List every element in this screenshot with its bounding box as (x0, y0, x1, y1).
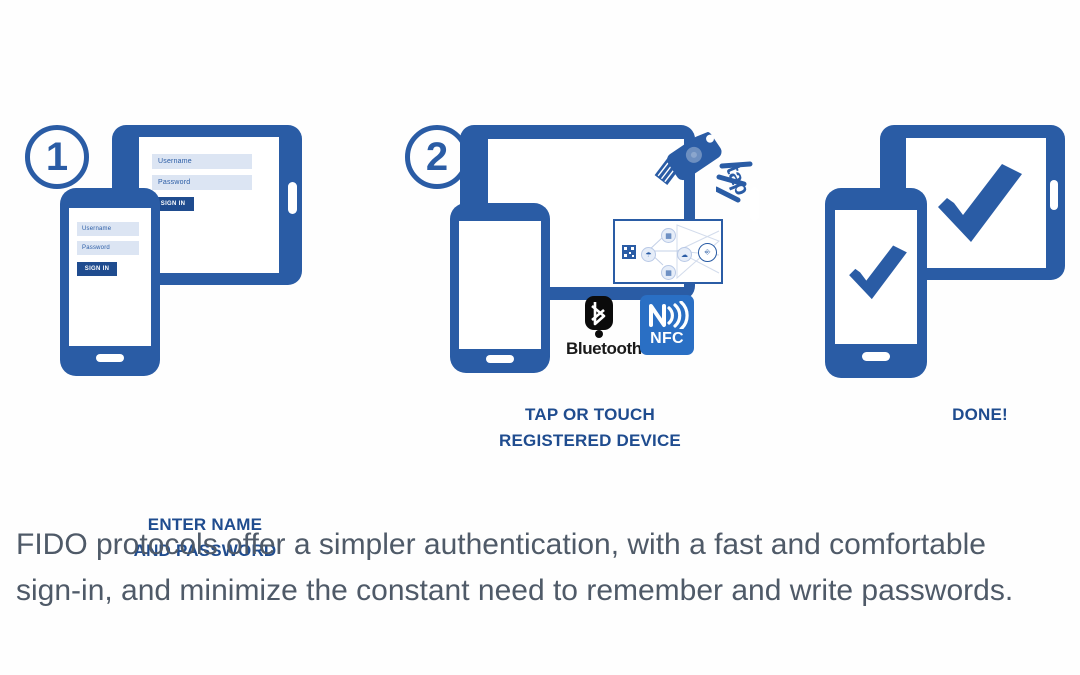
summary-paragraph-line-1: FIDO protocols offer a simpler authentic… (16, 522, 1080, 568)
nfc-icon (645, 301, 689, 329)
step-2-caption-line-2: REGISTERED DEVICE (420, 428, 760, 454)
bluetooth-icon (579, 295, 619, 338)
step1-tablet-screen: Username Password SIGN IN (139, 137, 279, 273)
step-3-caption: DONE! (860, 402, 1080, 428)
checkmark-icon-phone (845, 242, 911, 304)
step1-phone-signin-button[interactable]: SIGN IN (77, 262, 117, 276)
summary-paragraph: FIDO protocols offer a simpler authentic… (16, 522, 1080, 613)
hub-icon-bottom: ▦ (661, 265, 676, 280)
bluetooth-logo: Bluetooth (566, 295, 632, 359)
usb-token-icon: ⎆ (698, 243, 717, 262)
step2-phone-screen (459, 221, 541, 349)
step1-phone-username-field[interactable]: Username (77, 222, 139, 236)
step2-phone-home-button[interactable] (486, 355, 514, 363)
cloud-icon: ☁ (677, 247, 692, 262)
slide-canvas: 1 Username Password SIGN IN Username Pas… (0, 0, 1080, 675)
step1-phone-home-button[interactable] (96, 354, 124, 362)
connectivity-card: ▦ ☂ ☁ ▦ ⎆ (613, 219, 723, 284)
step-1-group: 1 Username Password SIGN IN Username Pas… (0, 110, 390, 410)
hub-icon-top: ▦ (661, 228, 676, 243)
nfc-label: NFC (650, 330, 684, 348)
step3-phone-device (825, 188, 927, 378)
qr-code-icon (622, 245, 636, 259)
step-number-badge-1: 1 (25, 125, 89, 189)
step-2-caption-line-1: TAP OR TOUCH (420, 402, 760, 428)
step3-tablet-screen (906, 138, 1046, 268)
wifi-icon: ☂ (641, 247, 656, 262)
step1-tablet-home-button[interactable] (288, 182, 297, 214)
nfc-logo: NFC (640, 295, 694, 355)
step-3-group: DONE! (810, 110, 1080, 410)
step2-phone-device (450, 203, 550, 373)
step1-tablet-password-field[interactable]: Password (152, 175, 252, 190)
tap-motion-rays-icon (716, 160, 768, 215)
step-2-caption: TAP OR TOUCH REGISTERED DEVICE (420, 402, 760, 455)
step1-tablet-username-field[interactable]: Username (152, 154, 252, 169)
step1-phone-password-field[interactable]: Password (77, 241, 139, 255)
step3-phone-screen (835, 210, 917, 344)
step1-phone-screen: Username Password SIGN IN (69, 208, 151, 346)
step3-tablet-home-button[interactable] (1050, 180, 1058, 210)
step-3-caption-line-1: DONE! (860, 402, 1080, 428)
bluetooth-label: Bluetooth (566, 339, 632, 359)
step1-phone-device: Username Password SIGN IN (60, 188, 160, 376)
step3-phone-home-button[interactable] (862, 352, 890, 361)
checkmark-icon-tablet (932, 160, 1028, 248)
summary-paragraph-line-2: sign-in, and minimize the constant need … (16, 568, 1080, 614)
